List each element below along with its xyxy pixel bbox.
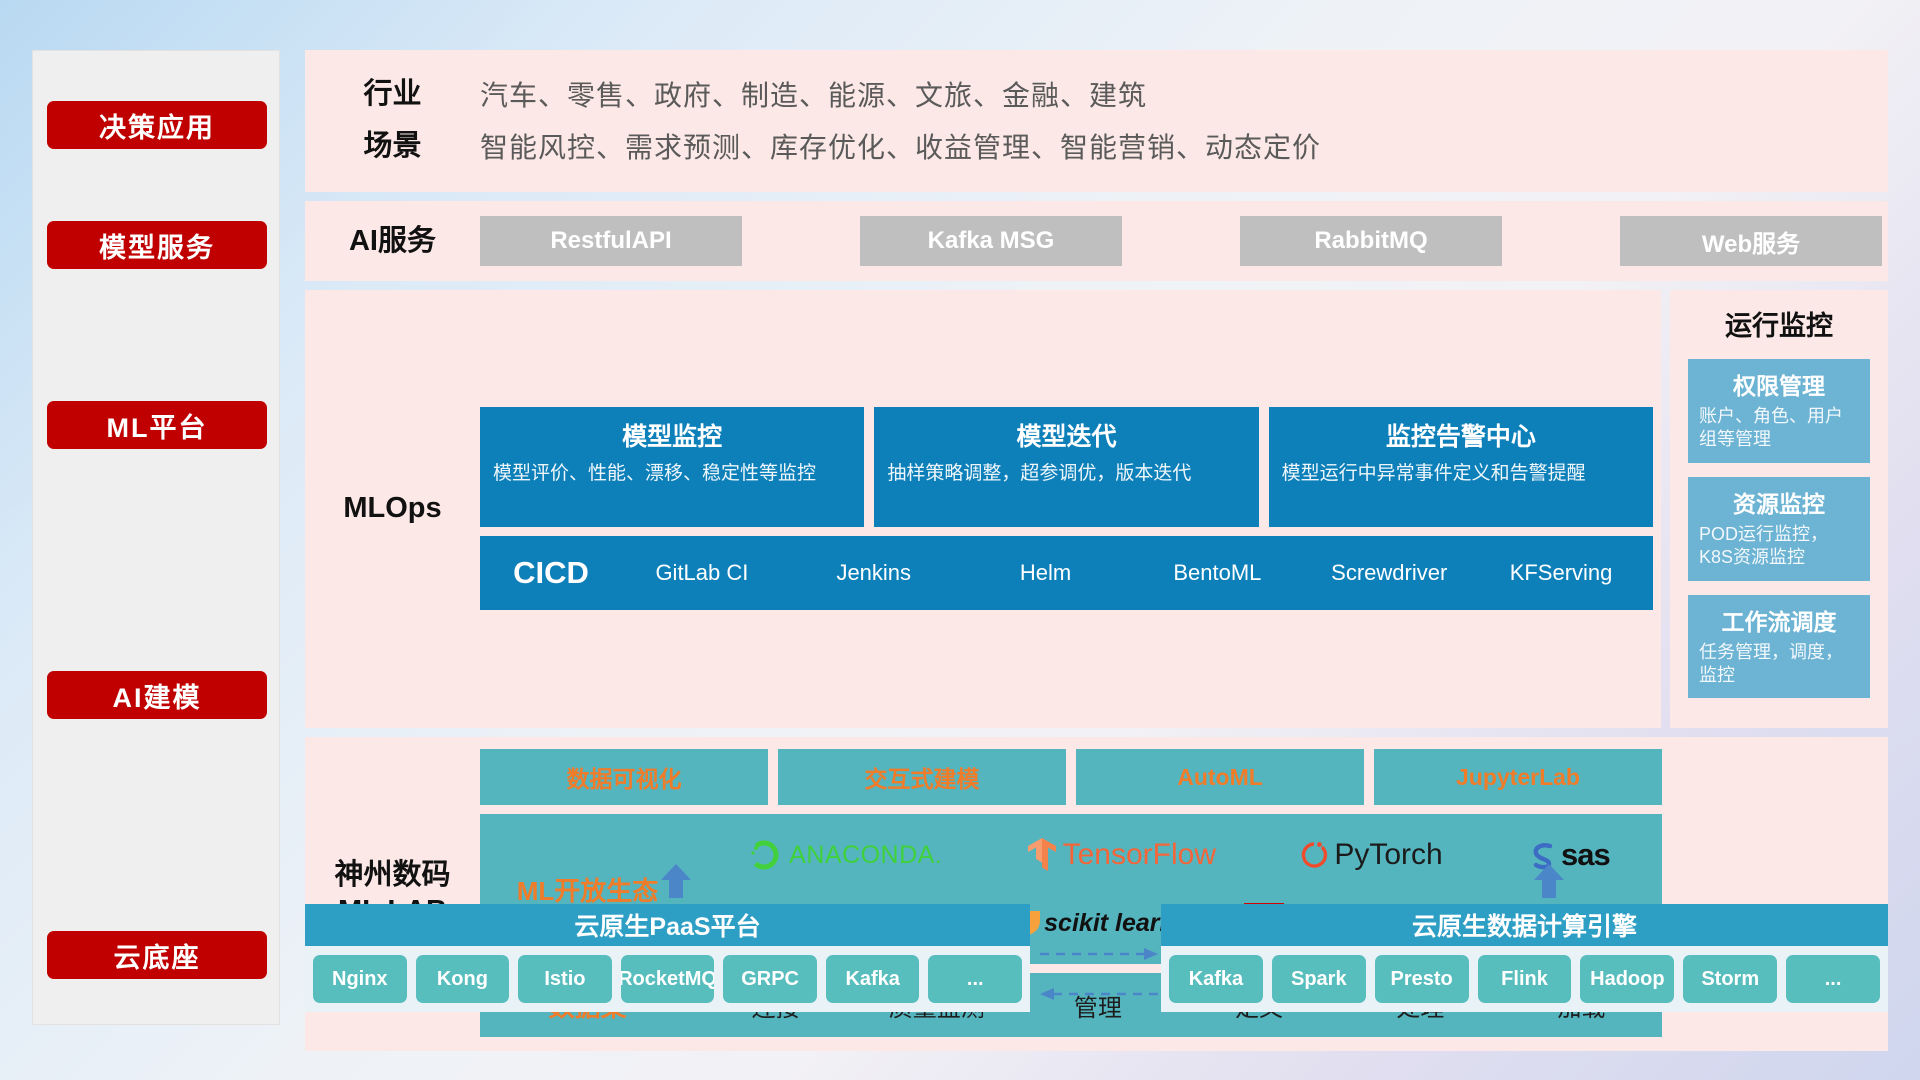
- monitor-card-title: 工作流调度: [1699, 603, 1859, 637]
- runtime-monitor-panel: 运行监控 权限管理 账户、角色、用户组等管理 资源监控 POD运行监控，K8S资…: [1670, 290, 1888, 728]
- pytorch-logo-text: PyTorch: [1334, 838, 1442, 872]
- cicd-item-helm[interactable]: Helm: [960, 560, 1132, 585]
- layer-rail: 决策应用 模型服务 ML平台 AI建模 云底座: [32, 50, 280, 1025]
- paas-chip-istio[interactable]: Istio: [518, 955, 612, 1003]
- monitor-card-title: 权限管理: [1699, 367, 1859, 401]
- pytorch-icon: [1300, 838, 1328, 872]
- mlops-card-alert-center[interactable]: 监控告警中心 模型运行中异常事件定义和告警提醒: [1269, 407, 1653, 527]
- rail-chip-ml-platform[interactable]: ML平台: [47, 401, 267, 449]
- cicd-item-bentoml[interactable]: BentoML: [1131, 560, 1303, 585]
- engine-chip-hadoop[interactable]: Hadoop: [1580, 955, 1674, 1003]
- paas-chip-more[interactable]: ...: [928, 955, 1022, 1003]
- paas-chip-nginx[interactable]: Nginx: [313, 955, 407, 1003]
- service-box-web[interactable]: Web服务: [1620, 216, 1882, 266]
- rail-chip-decision[interactable]: 决策应用: [47, 101, 267, 149]
- mlops-label: MLOps: [305, 490, 480, 526]
- monitor-card-resource[interactable]: 资源监控 POD运行监控，K8S资源监控: [1688, 477, 1870, 581]
- app-row-scenario: 场景 智能风控、需求预测、库存优化、收益管理、智能营销、动态定价: [305, 120, 1888, 172]
- monitor-card-desc: POD运行监控，K8S资源监控: [1699, 523, 1859, 570]
- tensorflow-logo: TensorFlow: [1027, 837, 1216, 873]
- arrow-up-paas-icon: [657, 864, 695, 898]
- rail-chip-model-service[interactable]: 模型服务: [47, 221, 267, 269]
- app-label-industry: 行业: [305, 76, 480, 112]
- monitor-card-title: 资源监控: [1699, 485, 1859, 519]
- app-text-scenario: 智能风控、需求预测、库存优化、收益管理、智能营销、动态定价: [480, 126, 1321, 166]
- cicd-item-screwdriver[interactable]: Screwdriver: [1303, 560, 1475, 585]
- bidirectional-connector-icon: [1040, 946, 1158, 1004]
- engine-chip-presto[interactable]: Presto: [1375, 955, 1469, 1003]
- mlops-card-title: 模型监控: [493, 417, 851, 453]
- tensorflow-logo-text: TensorFlow: [1063, 838, 1216, 872]
- tool-box-interactive-modeling[interactable]: 交互式建模: [778, 749, 1066, 805]
- monitor-card-desc: 账户、角色、用户组等管理: [1699, 405, 1859, 452]
- cicd-title: CICD: [486, 555, 616, 591]
- data-engine-group: 云原生数据计算引擎 Kafka Spark Presto Flink Hadoo…: [1161, 904, 1888, 1012]
- anaconda-icon: [747, 838, 781, 872]
- sas-logo-text: sas: [1561, 837, 1610, 873]
- paas-chip-kafka[interactable]: Kafka: [826, 955, 920, 1003]
- mlops-card-desc: 抽样策略调整，超参调优，版本迭代: [887, 461, 1245, 487]
- cicd-item-gitlab-ci[interactable]: GitLab CI: [616, 560, 788, 585]
- app-row-industry: 行业 汽车、零售、政府、制造、能源、文旅、金融、建筑: [305, 68, 1888, 120]
- engine-chip-kafka[interactable]: Kafka: [1169, 955, 1263, 1003]
- engine-chip-storm[interactable]: Storm: [1683, 955, 1777, 1003]
- arrow-up-engine-icon: [1530, 864, 1568, 898]
- rail-chip-ai-modeling[interactable]: AI建模: [47, 671, 267, 719]
- mlops-card-title: 模型迭代: [887, 417, 1245, 453]
- service-box-kafka-msg[interactable]: Kafka MSG: [860, 216, 1122, 266]
- band-decision-apps: 行业 汽车、零售、政府、制造、能源、文旅、金融、建筑 场景 智能风控、需求预测、…: [305, 50, 1888, 192]
- mlops-card-title: 监控告警中心: [1282, 417, 1640, 453]
- logo-line-1: ANACONDA. TensorFlow: [705, 824, 1652, 886]
- service-box-restfulapi[interactable]: RestfulAPI: [480, 216, 742, 266]
- paas-platform-group: 云原生PaaS平台 Nginx Kong Istio RocketMQ GRPC…: [305, 904, 1030, 1012]
- anaconda-logo-text: ANACONDA.: [789, 841, 942, 870]
- mlops-card-desc: 模型评价、性能、漂移、稳定性等监控: [493, 461, 851, 487]
- rail-chip-cloud-base[interactable]: 云底座: [47, 931, 267, 979]
- tensorflow-icon: [1027, 837, 1057, 873]
- engine-chip-more[interactable]: ...: [1786, 955, 1880, 1003]
- paas-chip-grpc[interactable]: GRPC: [723, 955, 817, 1003]
- monitor-card-permission[interactable]: 权限管理 账户、角色、用户组等管理: [1688, 359, 1870, 463]
- engine-chip-spark[interactable]: Spark: [1272, 955, 1366, 1003]
- service-box-rabbitmq[interactable]: RabbitMQ: [1240, 216, 1502, 266]
- mlops-card-model-iteration[interactable]: 模型迭代 抽样策略调整，超参调优，版本迭代: [874, 407, 1258, 527]
- runtime-monitor-title: 运行监控: [1688, 304, 1870, 343]
- engine-chip-flink[interactable]: Flink: [1478, 955, 1572, 1003]
- tool-box-jupyterlab[interactable]: JupyterLab: [1374, 749, 1662, 805]
- cloud-foundation: 云原生PaaS平台 Nginx Kong Istio RocketMQ GRPC…: [305, 880, 1888, 1030]
- mlops-left-panel: MLOps 模型监控 模型评价、性能、漂移、稳定性等监控 模型迭代 抽样策略调整…: [305, 290, 1661, 728]
- cicd-item-jenkins[interactable]: Jenkins: [788, 560, 960, 585]
- tool-box-data-visualization[interactable]: 数据可视化: [480, 749, 768, 805]
- band-ai-services: AI服务 RestfulAPI Kafka MSG RabbitMQ Web服务: [305, 201, 1888, 281]
- data-engine-title: 云原生数据计算引擎: [1161, 904, 1888, 946]
- band-mlops: MLOps 模型监控 模型评价、性能、漂移、稳定性等监控 模型迭代 抽样策略调整…: [305, 290, 1888, 728]
- monitor-card-workflow[interactable]: 工作流调度 任务管理，调度，监控: [1688, 595, 1870, 699]
- monitor-card-desc: 任务管理，调度，监控: [1699, 641, 1859, 688]
- pytorch-logo: PyTorch: [1300, 838, 1442, 872]
- anaconda-logo: ANACONDA.: [747, 838, 942, 872]
- app-label-scenario: 场景: [305, 128, 480, 164]
- mlops-card-desc: 模型运行中异常事件定义和告警提醒: [1282, 461, 1640, 487]
- tool-box-automl[interactable]: AutoML: [1076, 749, 1364, 805]
- mlops-card-model-monitoring[interactable]: 模型监控 模型评价、性能、漂移、稳定性等监控: [480, 407, 864, 527]
- paas-chip-kong[interactable]: Kong: [416, 955, 510, 1003]
- cicd-bar: CICD GitLab CI Jenkins Helm BentoML Scre…: [480, 536, 1653, 610]
- app-text-industry: 汽车、零售、政府、制造、能源、文旅、金融、建筑: [480, 74, 1147, 114]
- paas-chip-rocketmq[interactable]: RocketMQ: [621, 955, 715, 1003]
- cicd-item-kfserving[interactable]: KFServing: [1475, 560, 1647, 585]
- ai-services-label: AI服务: [305, 223, 480, 259]
- paas-platform-title: 云原生PaaS平台: [305, 904, 1030, 946]
